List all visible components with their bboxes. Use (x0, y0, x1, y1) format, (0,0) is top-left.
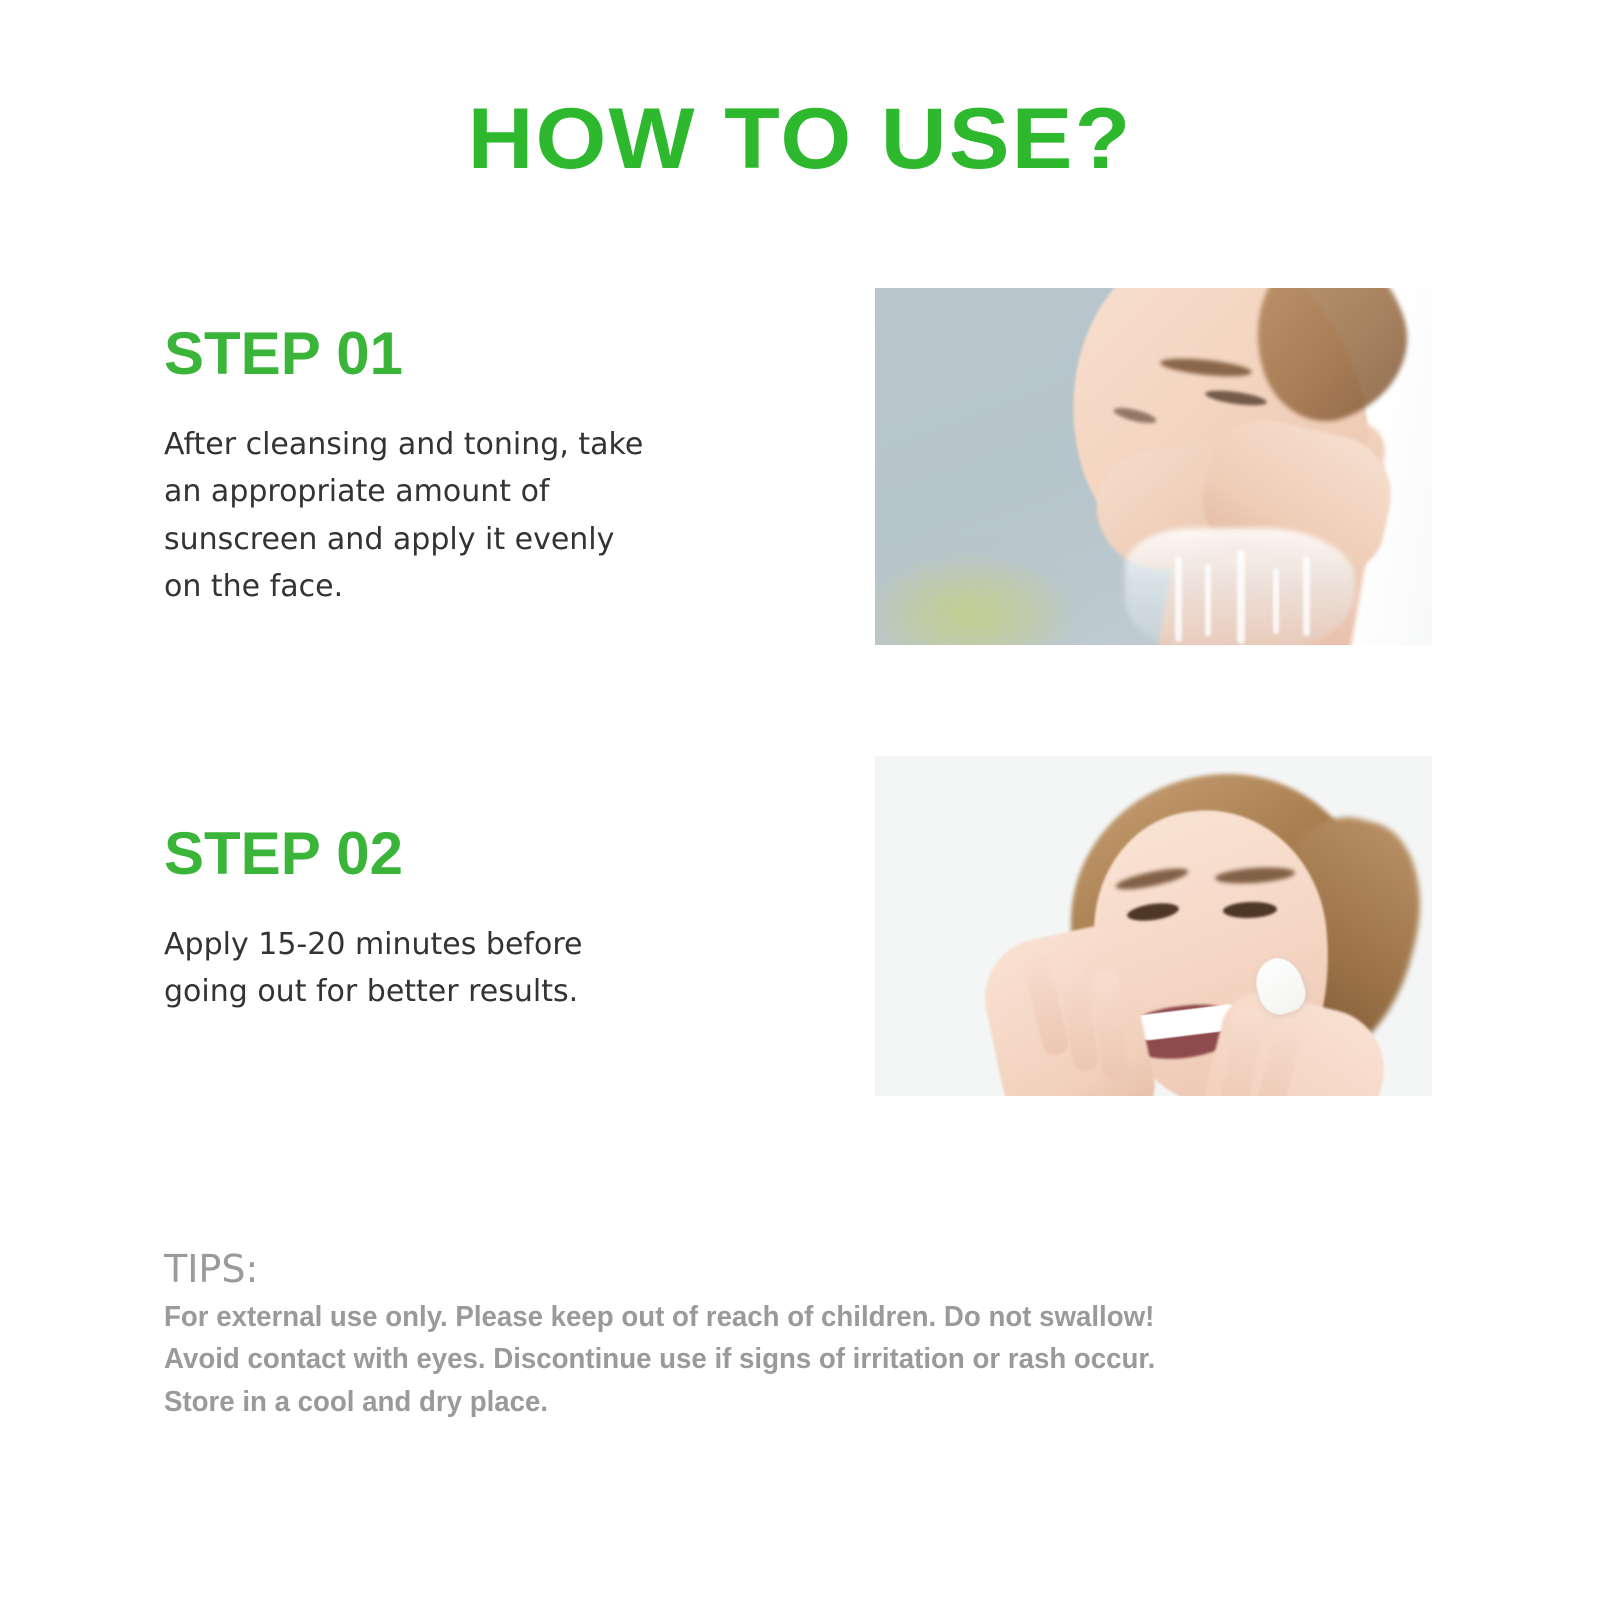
water-drip (1175, 556, 1182, 642)
water-drip (1303, 556, 1310, 636)
step-heading-01: STEP 01 (164, 322, 774, 387)
step-body-02: Apply 15-20 minutes before going out for… (164, 921, 774, 1016)
step-block-01: STEP 01 After cleansing and toning, take… (164, 322, 774, 610)
page-title: HOW TO USE? (0, 96, 1600, 182)
tips-body: For external use only. Please keep out o… (164, 1296, 1415, 1424)
water-drip (1237, 550, 1245, 644)
how-to-use-infographic: HOW TO USE? STEP 01 After cleansing and … (0, 0, 1600, 1600)
tips-heading: TIPS: (164, 1248, 1454, 1292)
water-drip (1273, 568, 1279, 634)
step-block-02: STEP 02 Apply 15-20 minutes before going… (164, 822, 774, 1016)
water-drip (1205, 564, 1211, 636)
step-photo-01 (875, 288, 1432, 645)
step-heading-02: STEP 02 (164, 822, 774, 887)
tips-block: TIPS: For external use only. Please keep… (164, 1248, 1454, 1424)
step-body-01: After cleansing and toning, take an appr… (164, 421, 774, 611)
photo-background-blur (875, 555, 1075, 645)
step-photo-02 (875, 756, 1432, 1096)
